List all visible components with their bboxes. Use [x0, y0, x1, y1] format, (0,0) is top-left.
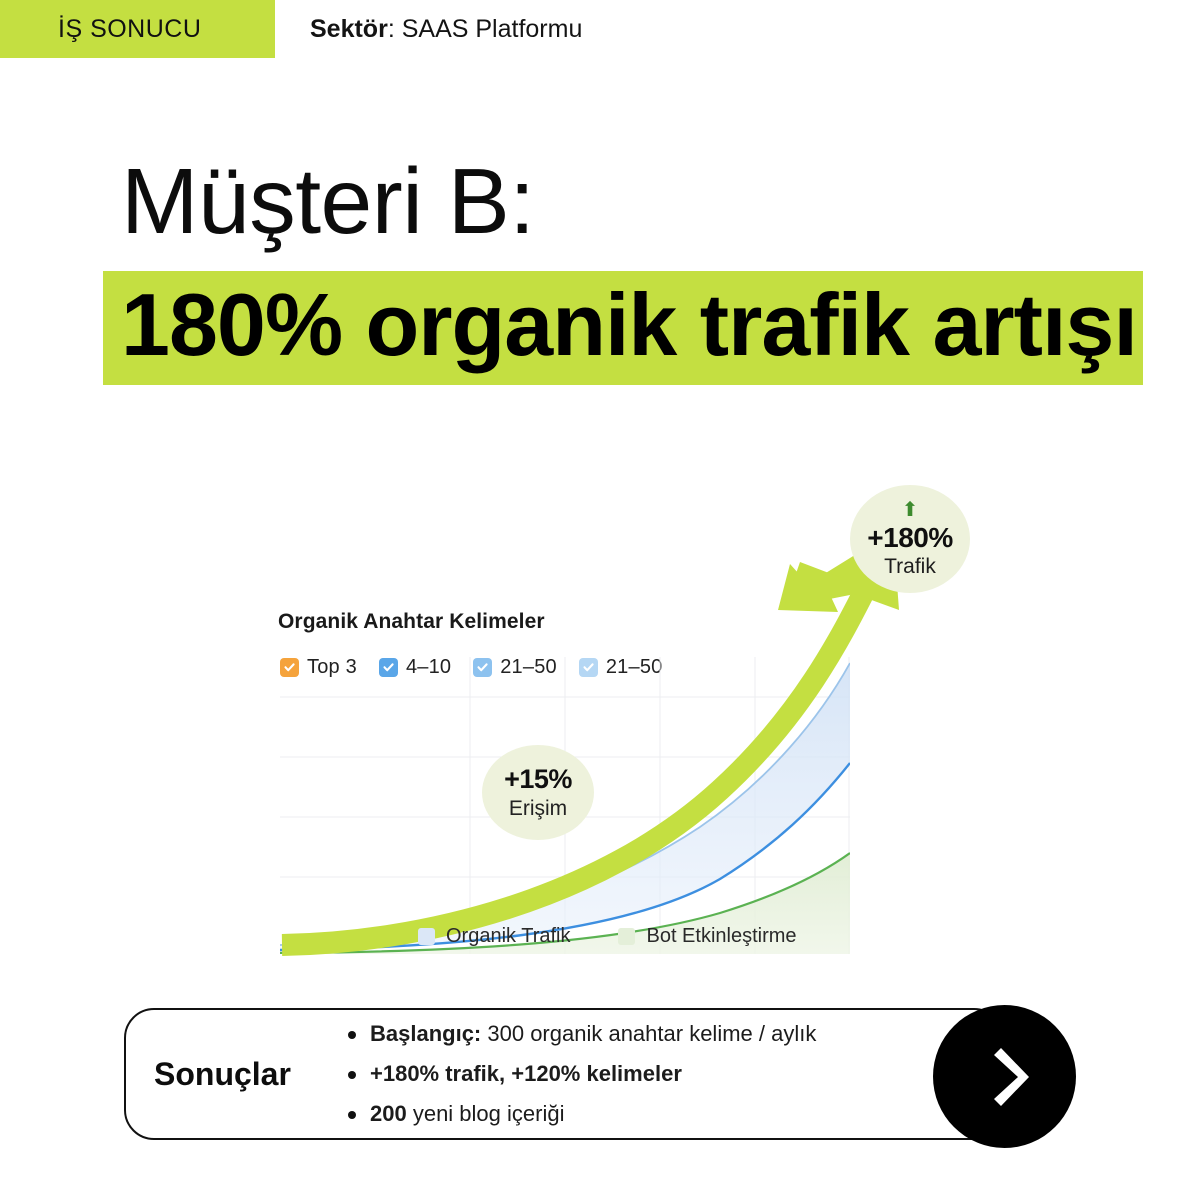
business-result-badge-label: İŞ SONUCU — [58, 15, 201, 44]
top-header: İŞ SONUCU Sektör: SAAS Platformu — [0, 0, 1200, 58]
arrow-up-icon: ⬆ — [902, 500, 919, 520]
legend-swatch-icon — [618, 928, 635, 945]
sector-meta-separator: : — [388, 15, 402, 43]
traffic-badge: ⬆ +180% Trafik — [850, 485, 970, 593]
sector-meta: Sektör: SAAS Platformu — [310, 15, 582, 44]
results-card-label: Sonuçlar — [154, 1056, 344, 1093]
list-item-bold: +180% trafik, +120% kelimeler — [370, 1061, 682, 1086]
growth-arrow — [270, 480, 910, 970]
reach-badge-label: Erişim — [509, 797, 567, 821]
sector-meta-value: SAAS Platformu — [402, 15, 583, 43]
sector-meta-key: Sektör — [310, 15, 388, 43]
legend-item-bot-activation[interactable]: Bot Etkinleştirme — [618, 925, 796, 948]
legend-label: Organik Trafik — [446, 925, 570, 948]
reach-badge: +15% Erişim — [482, 745, 594, 840]
business-result-badge: İŞ SONUCU — [0, 0, 275, 58]
chart-region: Organik Anahtar Kelimeler Top 3 4–10 21–… — [0, 460, 1200, 970]
next-button[interactable] — [933, 1005, 1076, 1148]
headline-emphasis: 180% organik trafik artışı — [121, 283, 1125, 367]
list-item: Başlangıç: 300 organik anahtar kelime / … — [344, 1023, 1002, 1045]
legend-swatch-icon — [418, 928, 435, 945]
legend-item-organic-traffic[interactable]: Organik Trafik — [418, 925, 570, 948]
list-item-rest: yeni blog içeriği — [407, 1101, 565, 1126]
list-item: 200 yeni blog içeriği — [344, 1103, 1002, 1125]
results-card: Sonuçlar Başlangıç: 300 organik anahtar … — [124, 1008, 1004, 1140]
chevron-right-icon — [980, 1047, 1030, 1107]
legend-label: Bot Etkinleştirme — [646, 925, 796, 948]
list-item: +180% trafik, +120% kelimeler — [344, 1063, 1002, 1085]
list-item-bold: 200 — [370, 1101, 407, 1126]
reach-badge-value: +15% — [504, 764, 572, 795]
headline-highlight-bar: 180% organik trafik artışı — [103, 271, 1143, 385]
headline-block: Müşteri B: 180% organik trafik artışı — [103, 152, 1143, 385]
traffic-badge-value: +180% — [867, 522, 952, 554]
list-item-bold: Başlangıç: — [370, 1021, 481, 1046]
chart-series-legend: Organik Trafik Bot Etkinleştirme — [418, 925, 797, 948]
traffic-badge-label: Trafik — [884, 555, 936, 579]
results-list: Başlangıç: 300 organik anahtar kelime / … — [344, 1023, 1002, 1125]
list-item-rest: 300 organik anahtar kelime / aylık — [481, 1021, 816, 1046]
page-title: Müşteri B: — [121, 152, 1143, 251]
